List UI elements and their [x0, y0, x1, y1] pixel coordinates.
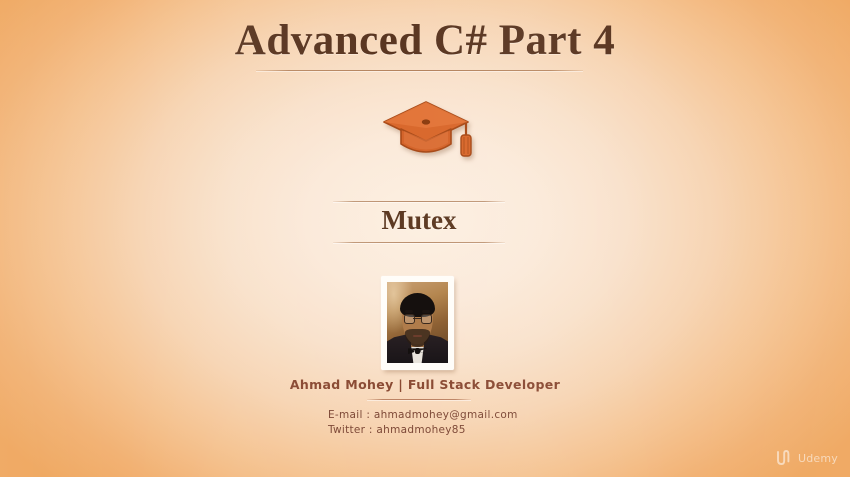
portrait-image — [387, 282, 448, 363]
portrait-brow-left — [405, 310, 414, 312]
subject-divider-bottom — [333, 242, 505, 243]
author-divider — [367, 399, 471, 400]
udemy-watermark: Udemy — [775, 449, 838, 467]
author-portrait — [382, 277, 453, 369]
contact-email: E-mail : ahmadmohey@gmail.com — [328, 408, 518, 423]
subject-divider-top — [333, 201, 505, 202]
portrait-glasses-left — [404, 314, 415, 324]
graduation-cap-icon — [382, 98, 474, 164]
author-name: Ahmad Mohey | Full Stack Developer — [0, 377, 850, 392]
title-divider — [256, 70, 583, 71]
portrait-bowtie-knot — [415, 348, 420, 354]
udemy-logo-icon — [775, 449, 793, 467]
presentation-slide: Advanced C# Part 4 Mutex — [0, 0, 850, 477]
contact-info: E-mail : ahmadmohey@gmail.com Twitter : … — [328, 408, 518, 438]
portrait-glasses-bridge — [413, 318, 421, 319]
contact-twitter: Twitter : ahmadmohey85 — [328, 423, 518, 438]
portrait-brow-right — [422, 310, 431, 312]
subject-title: Mutex — [333, 205, 505, 236]
udemy-brand-label: Udemy — [798, 452, 838, 465]
page-title: Advanced C# Part 4 — [0, 16, 850, 67]
portrait-glasses-right — [421, 314, 432, 324]
